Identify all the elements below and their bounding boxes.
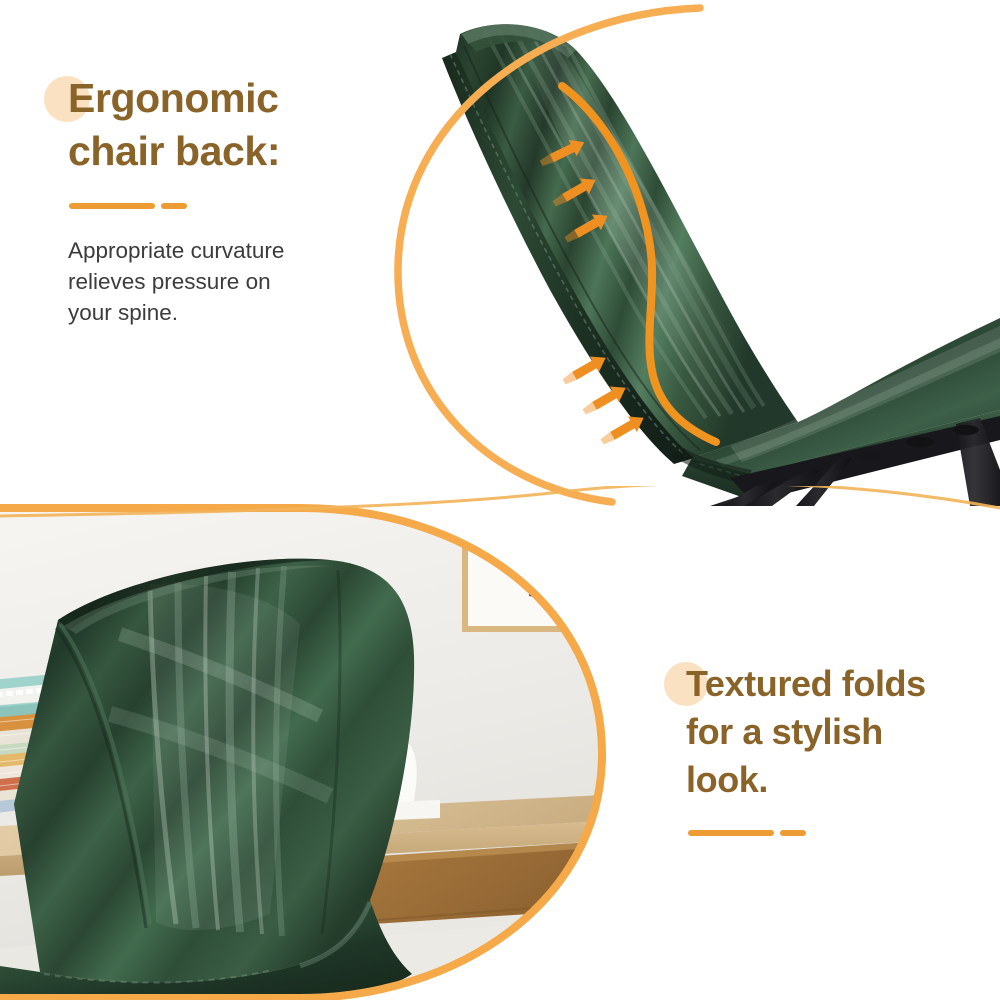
dash-short — [161, 203, 187, 209]
arrow-right-up-icon — [537, 134, 588, 171]
product-infographic: Ergonomic chair back: Appropriate curvat… — [0, 0, 1000, 1000]
lifestyle-photo-clip: BEAUTIFUL & SAVE — [0, 504, 622, 1000]
callout-headline: Ergonomic chair back: — [68, 72, 388, 178]
arrow-right-up-icon — [560, 350, 611, 390]
wall-picture-frame — [462, 528, 584, 632]
lifestyle-photo-svg: BEAUTIFUL & SAVE — [0, 504, 622, 1000]
arrow-right-up-icon — [598, 410, 649, 450]
arrow-right-up-icon — [550, 172, 601, 212]
arrow-right-up-icon — [580, 380, 631, 420]
lumbar-curve-arc — [562, 86, 716, 442]
callout-ergonomic-chair-back: Ergonomic chair back: Appropriate curvat… — [68, 72, 388, 328]
callout-textured-folds: Textured folds for a stylish look. — [686, 660, 986, 836]
arrow-group-upper — [537, 134, 612, 247]
callout-body: Appropriate curvature relieves pressure … — [68, 235, 388, 328]
panel-bottom-lifestyle-photo: BEAUTIFUL & SAVE — [0, 504, 622, 1000]
chair-back-closeup — [0, 559, 414, 1000]
dash-divider — [69, 203, 388, 209]
dash-short — [780, 830, 806, 836]
arrow-group-lower — [560, 350, 649, 450]
callout-headline: Textured folds for a stylish look. — [686, 660, 986, 804]
dash-long — [688, 830, 774, 836]
panel-top-product-photo: Ergonomic chair back: Appropriate curvat… — [0, 0, 1000, 506]
divider-arc — [0, 486, 1000, 526]
dash-divider — [688, 830, 986, 836]
dash-long — [69, 203, 155, 209]
arrow-right-up-icon — [562, 208, 613, 248]
